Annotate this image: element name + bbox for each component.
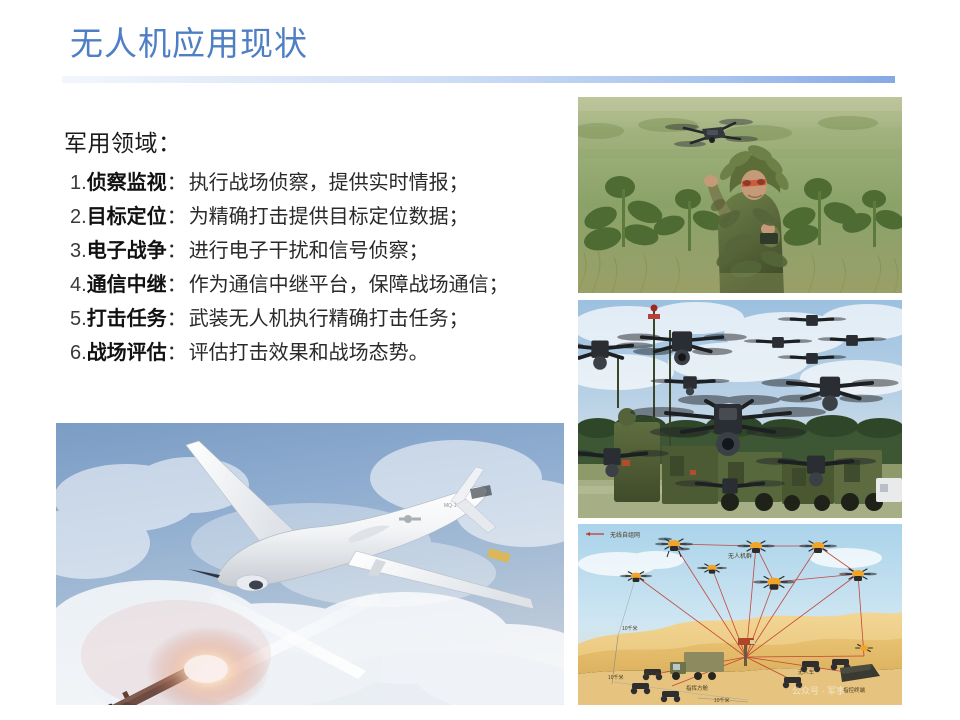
list-item-separator: ：: [167, 268, 187, 302]
list-item-keyword: 侦察监视: [87, 166, 167, 200]
list-item-description: 作为通信中继平台，保障战场通信；: [189, 268, 509, 302]
uav-ad-hoc-network-diagram: 无线自组网: [578, 524, 902, 705]
list-item-keyword: 电子战争: [87, 234, 167, 268]
list-item-separator: ：: [167, 166, 187, 200]
drone-swarm-over-military-vehicles-photo: [578, 300, 902, 518]
list-item-separator: ：: [167, 302, 187, 336]
list-item-keyword: 目标定位: [87, 200, 167, 234]
list-item-separator: ：: [167, 336, 187, 370]
list-item-number: 4.: [70, 268, 87, 302]
svg-text:MQ-1: MQ-1: [444, 503, 457, 509]
list-item-number: 1.: [70, 166, 87, 200]
list-item-keyword: 打击任务: [87, 302, 167, 336]
list-item-keyword: 战场评估: [87, 336, 167, 370]
diagram-distance-b-label: 10千米: [608, 674, 624, 681]
diagram-drone-group-label: 无人机群: [728, 552, 752, 560]
list-item-description: 武装无人机执行精确打击任务；: [189, 302, 469, 336]
list-item-description: 进行电子干扰和信号侦察；: [189, 234, 429, 268]
diagram-watermark: 公众号 · 军事: [792, 685, 845, 696]
diagram-legend-label: 无线自组网: [610, 531, 640, 539]
list-item-keyword: 通信中继: [87, 268, 167, 302]
list-item: 6. 战场评估 ： 评估打击效果和战场态势。: [64, 336, 564, 370]
list-item: 4. 通信中继 ： 作为通信中继平台，保障战场通信；: [64, 268, 564, 302]
content-column: 军用领域： 1. 侦察监视 ： 执行战场侦察，提供实时情报； 2. 目标定位 ：…: [64, 126, 564, 370]
armed-uav-firing-missile-photo: MQ-1: [56, 423, 564, 705]
diagram-ugv-left-label: 无人车: [644, 670, 661, 678]
list-item-number: 3.: [70, 234, 87, 268]
list-item-separator: ：: [167, 234, 187, 268]
camouflaged-soldier-launching-drone-photo: [578, 97, 902, 293]
military-application-list: 1. 侦察监视 ： 执行战场侦察，提供实时情报； 2. 目标定位 ： 为精确打击…: [64, 166, 564, 370]
diagram-ugv-right-label: 无人车: [798, 668, 815, 676]
diagram-distance-a-label: 10千米: [622, 625, 638, 632]
list-item-number: 5.: [70, 302, 87, 336]
list-item-separator: ：: [167, 200, 187, 234]
list-item: 2. 目标定位 ： 为精确打击提供目标定位数据；: [64, 200, 564, 234]
diagram-distance-c-label: 10千米: [714, 697, 730, 704]
slide: 无人机应用现状 军用领域： 1. 侦察监视 ： 执行战场侦察，提供实时情报； 2…: [0, 0, 960, 720]
section-heading: 军用领域：: [64, 126, 564, 160]
diagram-control-terminal-label: 指控终端: [843, 686, 866, 694]
list-item-number: 6.: [70, 336, 87, 370]
list-item: 3. 电子战争 ： 进行电子干扰和信号侦察；: [64, 234, 564, 268]
list-item: 5. 打击任务 ： 武装无人机执行精确打击任务；: [64, 302, 564, 336]
list-item-number: 2.: [70, 200, 87, 234]
title-divider: [62, 76, 895, 83]
page-title: 无人机应用现状: [70, 22, 308, 66]
list-item-description: 评估打击效果和战场态势。: [189, 336, 429, 370]
diagram-command-shelter-label: 指挥方舱: [686, 684, 709, 692]
list-item: 1. 侦察监视 ： 执行战场侦察，提供实时情报；: [64, 166, 564, 200]
list-item-description: 为精确打击提供目标定位数据；: [189, 200, 469, 234]
list-item-description: 执行战场侦察，提供实时情报；: [189, 166, 469, 200]
